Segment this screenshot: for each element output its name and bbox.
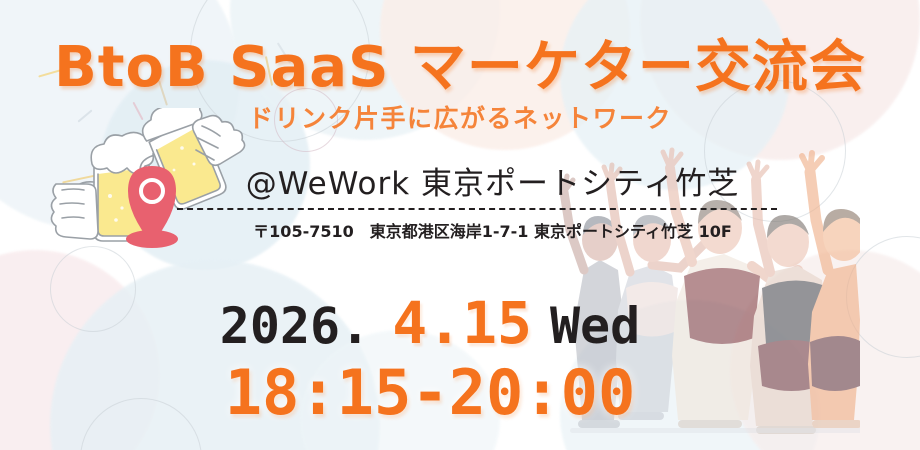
dashed-divider: [177, 208, 777, 210]
event-date-year: 2026.: [220, 297, 371, 355]
event-date-month-day: 4.15: [392, 289, 532, 357]
event-title: BtoB SaaS マーケター交流会: [0, 22, 920, 103]
event-date-day-of-week: Wed: [550, 297, 640, 355]
event-banner: BtoB SaaS マーケター交流会 ドリンク片手に広がるネットワーク @WeW…: [0, 0, 920, 450]
event-date: 2026.4.15Wed: [150, 294, 710, 352]
event-time: 18:15-20:00: [150, 362, 710, 424]
event-subtitle: ドリンク片手に広がるネットワーク: [0, 99, 920, 135]
banner-content: BtoB SaaS マーケター交流会 ドリンク片手に広がるネットワーク @WeW…: [0, 0, 920, 450]
venue-name: @WeWork 東京ポートシティ竹芝: [205, 158, 780, 203]
venue-address: 〒105-7510 東京都港区海岸1-7-1 東京ポートシティ竹芝 10F: [205, 218, 780, 242]
